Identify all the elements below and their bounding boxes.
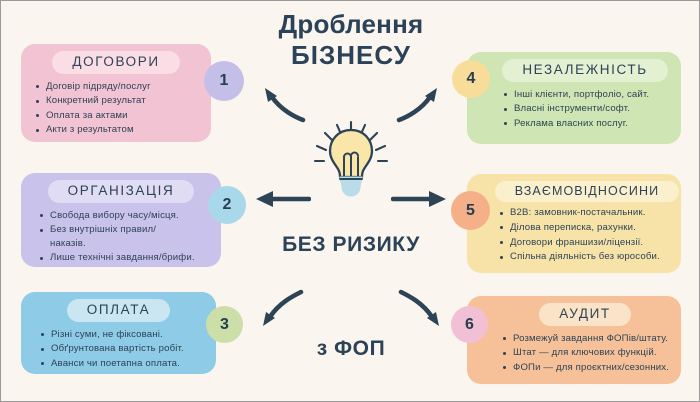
card-bullet-list: Розмежуй завдання ФОПів/штату. Штат — дл…: [467, 326, 681, 375]
badge-number-5: 5: [451, 191, 490, 230]
infographic-canvas: ДОГОВОРИ Договір підряду/послуг Конкретн…: [0, 0, 700, 402]
list-item: Свобода вибору часу/місця.: [39, 209, 211, 223]
list-item: Ділова переписка, рахунки.: [499, 221, 671, 235]
badge-number-1: 1: [204, 61, 244, 101]
card-bullet-list: Різні суми, не фіксовані. Обґрунтована в…: [21, 322, 216, 371]
badge-number-2: 2: [208, 186, 246, 224]
arrow-right-icon: [391, 188, 449, 210]
card-title-wrap: ОРГАНІЗАЦІЯ: [21, 173, 221, 203]
list-item: Реклама власних послуг.: [503, 117, 671, 131]
card-title-oplata: ОПЛАТА: [67, 299, 170, 322]
list-item: Інші клієнти, портфоліо, сайт.: [503, 88, 671, 102]
page-title-line1: Дроблення: [241, 9, 461, 40]
list-item: Штат — для ключових функцій.: [502, 346, 671, 360]
card-title-nezalezhnist: НЕЗАЛЕЖНІСТЬ: [502, 59, 667, 82]
list-item: Аванси чи поетапна оплата.: [40, 357, 206, 371]
list-item: Лише технічні завдання/брифи.: [39, 251, 211, 265]
list-item: Обґрунтована вартість робіт.: [40, 342, 206, 356]
card-oplata: ОПЛАТА Різні суми, не фіксовані. Обґрунт…: [21, 292, 216, 374]
list-item: Різні суми, не фіксовані.: [40, 328, 206, 342]
page-title-line2: БІЗНЕСУ: [241, 40, 461, 71]
list-item: Договір підряду/послуг: [35, 80, 201, 94]
list-item: ФОПи — для проєктних/сезонних.: [502, 361, 671, 375]
card-audyt: АУДИТ Розмежуй завдання ФОПів/штату. Шта…: [467, 296, 681, 384]
card-bullet-list: Свобода вибору часу/місця. Без внутрішні…: [21, 203, 221, 265]
lightbulb-icon: [306, 119, 396, 197]
arrow-left-icon: [253, 188, 311, 210]
arrow-up-right-icon: [395, 83, 443, 123]
list-item: Спільна діяльність без юрособи.: [499, 250, 671, 264]
card-title-vzaemovidnosyny: ВЗАЄМОВІДНОСИНИ: [495, 181, 679, 202]
card-bullet-list: Інші клієнти, портфоліо, сайт. Власні ін…: [467, 82, 681, 131]
card-title-wrap: АУДИТ: [467, 296, 681, 326]
card-title-wrap: НЕЗАЛЕЖНІСТЬ: [467, 52, 681, 82]
card-dogovory: ДОГОВОРИ Договір підряду/послуг Конкретн…: [21, 44, 211, 142]
card-title-wrap: ОПЛАТА: [21, 292, 216, 322]
card-title-audyt: АУДИТ: [539, 303, 630, 326]
list-item: B2B: замовник-постачальник.: [499, 206, 671, 220]
badge-number-3: 3: [206, 306, 243, 343]
card-bullet-list: B2B: замовник-постачальник. Ділова переп…: [467, 202, 681, 263]
card-title-dogovory: ДОГОВОРИ: [52, 51, 179, 74]
card-vzaemovidnosyny: ВЗАЄМОВІДНОСИНИ B2B: замовник-постачальн…: [467, 174, 681, 273]
list-item: Власні інструменти/софт.: [503, 102, 671, 116]
card-bullet-list: Договір підряду/послуг Конкретний резуль…: [21, 74, 211, 137]
card-title-organizaciya: ОРГАНІЗАЦІЯ: [48, 180, 195, 203]
list-item: Конкретний результат: [35, 94, 201, 108]
card-nezalezhnist: НЕЗАЛЕЖНІСТЬ Інші клієнти, портфоліо, са…: [467, 52, 681, 144]
arrow-down-right-icon: [397, 289, 445, 331]
list-item: Оплата за актами: [35, 109, 201, 123]
list-item: Розмежуй завдання ФОПів/штату.: [502, 332, 671, 346]
page-title: Дроблення БІЗНЕСУ: [241, 9, 461, 71]
subtitle-bottom: з ФОП: [241, 337, 461, 361]
card-organizaciya: ОРГАНІЗАЦІЯ Свобода вибору часу/місця. Б…: [21, 173, 221, 267]
list-item: Без внутрішніх правил/ наказів.: [39, 223, 170, 250]
card-title-wrap: ВЗАЄМОВІДНОСИНИ: [467, 174, 681, 202]
list-item: Договори франшизи/ліцензії.: [499, 236, 671, 250]
list-item: Акти з результатом: [35, 123, 201, 137]
card-title-wrap: ДОГОВОРИ: [21, 44, 211, 74]
arrow-down-left-icon: [257, 289, 305, 331]
arrow-up-left-icon: [259, 83, 307, 123]
subtitle-middle: БЕЗ РИЗИКУ: [241, 233, 461, 257]
